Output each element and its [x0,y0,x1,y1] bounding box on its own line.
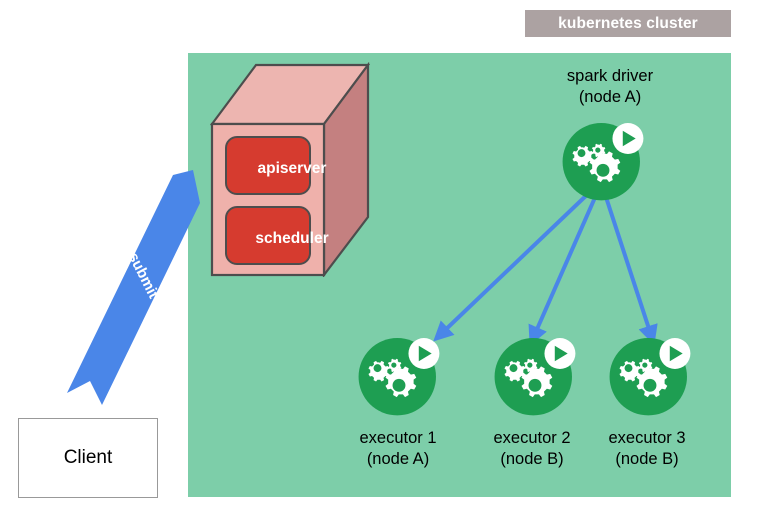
executor-3-label-line1: executor 3 [608,429,685,447]
executor-2-label-line1: executor 2 [493,429,570,447]
apiserver-component-shape[interactable] [226,137,310,194]
gears-play-icon[interactable] [356,332,442,418]
executor-2-label-line2: (node B) [500,450,563,468]
scheduler-component-shape[interactable] [226,207,310,264]
gears-play-icon[interactable] [560,117,646,203]
executor-1-node-icon[interactable] [356,332,442,418]
executor-2-node-icon[interactable] [492,332,578,418]
kubernetes-cluster-tag: kubernetes cluster [525,10,731,37]
spark-driver-label-line1: spark driver [567,67,653,85]
client-box[interactable]: Client [18,418,158,498]
spark-driver-label: spark driver(node A) [530,66,690,108]
diagram-canvas: kubernetes cluster apiserver scheduler [0,0,761,516]
gear-medium-hole [578,149,586,157]
spark-submit-arrow-shape [55,165,220,410]
gear-large-hole [529,379,542,392]
cube-shape [210,62,370,277]
gear-large-hole [393,379,406,392]
executor-3-label: executor 3(node B) [567,428,727,470]
executor-1-label-line2: (node A) [367,450,429,468]
ribbon-shape [67,170,200,405]
gears-play-icon[interactable] [492,332,578,418]
gear-small-hole [595,148,600,153]
gear-large-hole [597,164,610,177]
spark-driver-node-icon[interactable] [560,117,646,203]
executor-1-label-line1: executor 1 [359,429,436,447]
executor-3-label-line2: (node B) [615,450,678,468]
gears-play-icon[interactable] [607,332,693,418]
spark-driver-label-line2: (node A) [579,88,641,106]
gear-medium-hole [510,364,518,372]
spark-submit-arrow [55,165,220,410]
kubernetes-cluster-tag-label: kubernetes cluster [558,15,698,33]
gear-large-hole [644,379,657,392]
executor-3-node-icon[interactable] [607,332,693,418]
gear-small-hole [391,363,396,368]
control-plane-cube: apiserver scheduler [210,62,370,277]
gear-medium-hole [374,364,382,372]
client-label: Client [64,447,113,469]
gear-small-hole [642,363,647,368]
gear-medium-hole [625,364,633,372]
gear-small-hole [527,363,532,368]
